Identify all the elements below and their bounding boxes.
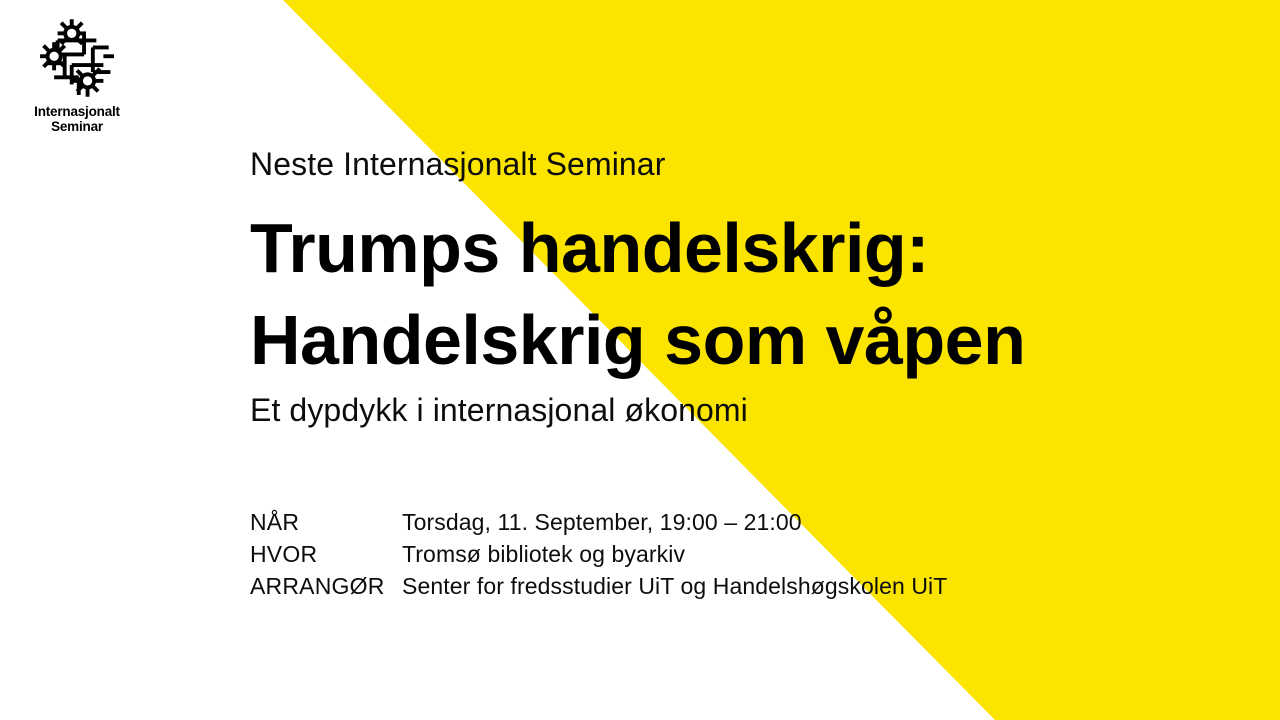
event-detail-label-when: NÅR (250, 506, 402, 538)
slide-content: Neste Internasjonalt Seminar Trumps hand… (250, 0, 1260, 720)
event-detail-row-where: HVOR Tromsø bibliotek og byarkiv (250, 538, 947, 570)
event-detail-value-where: Tromsø bibliotek og byarkiv (402, 538, 685, 570)
logo-wordmark-line-1: Internasjonalt (18, 104, 136, 119)
event-detail-value-when: Torsdag, 11. September, 19:00 – 21:00 (402, 506, 802, 538)
internasjonalt-seminar-network-icon (33, 14, 121, 102)
page-title: Trumps handelskrig: Handelskrig som våpe… (250, 202, 1025, 386)
logo: Internasjonalt Seminar (18, 14, 136, 134)
logo-wordmark: Internasjonalt Seminar (18, 104, 136, 134)
event-announcement-slide: Internasjonalt Seminar Neste Internasjon… (0, 0, 1280, 720)
page-title-line-1: Trumps handelskrig: (250, 202, 1025, 294)
logo-wordmark-line-2: Seminar (18, 119, 136, 134)
page-subtitle: Et dypdykk i internasjonal økonomi (250, 390, 748, 430)
page-title-line-2: Handelskrig som våpen (250, 294, 1025, 386)
event-detail-row-organizer: ARRANGØR Senter for fredsstudier UiT og … (250, 570, 947, 602)
event-detail-label-organizer: ARRANGØR (250, 570, 402, 602)
event-details-list: NÅR Torsdag, 11. September, 19:00 – 21:0… (250, 506, 947, 602)
event-detail-value-organizer: Senter for fredsstudier UiT og Handelshø… (402, 570, 947, 602)
event-detail-row-when: NÅR Torsdag, 11. September, 19:00 – 21:0… (250, 506, 947, 538)
kicker-text: Neste Internasjonalt Seminar (250, 144, 665, 184)
event-detail-label-where: HVOR (250, 538, 402, 570)
